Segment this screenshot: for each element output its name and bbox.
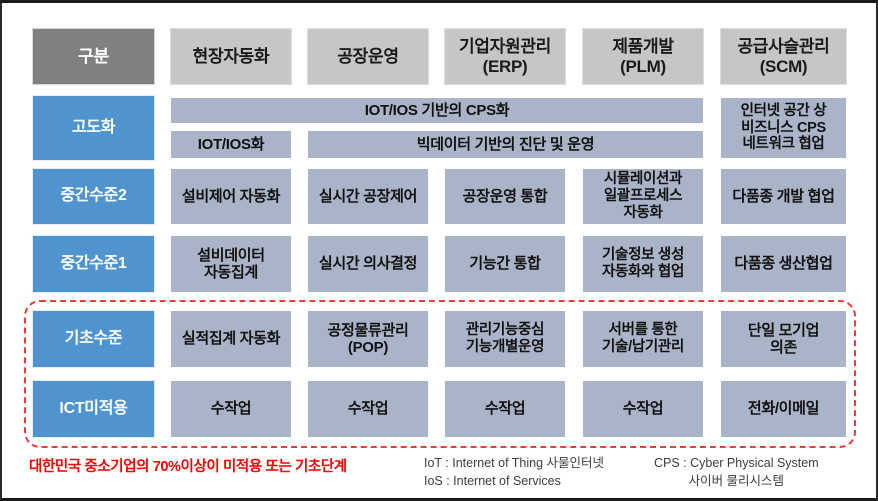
header-cell-scm: 공급사슬관리 (SCM) bbox=[720, 28, 847, 85]
cell-기초수준-현장자동화: 실적집계 자동화 bbox=[170, 310, 292, 368]
row-header-기초수준: 기초수준 bbox=[32, 310, 155, 368]
cell-고도화-span-top: IOT/IOS 기반의 CPS화 bbox=[170, 97, 704, 124]
legend-iot-ios: IoT : Internet of Thing 사물인터넷 IoS : Inte… bbox=[424, 454, 604, 490]
row-header-ict미적용: ICT미적용 bbox=[32, 380, 155, 438]
cell-중간수준1-현장자동화: 설비데이터 자동집계 bbox=[170, 235, 292, 293]
footer-note: 대한민국 중소기업의 70%이상이 미적용 또는 기초단계 bbox=[29, 455, 347, 476]
cell-기초수준-erp: 관리기능중심 기능개별운영 bbox=[444, 310, 566, 368]
cell-중간수준2-현장자동화: 설비제어 자동화 bbox=[170, 168, 292, 225]
cell-고도화-scm: 인터넷 공간 상 비즈니스 CPS 네트워크 협업 bbox=[720, 97, 847, 159]
cell-중간수준1-erp: 기능간 통합 bbox=[444, 235, 566, 293]
cell-중간수준2-plm: 시뮬레이션과 일괄프로세스 자동화 bbox=[582, 168, 704, 225]
cell-기초수준-scm: 단일 모기업 의존 bbox=[720, 310, 847, 368]
cell-ict미적용-scm: 전화/이메일 bbox=[720, 380, 847, 438]
row-header-고도화: 고도화 bbox=[32, 95, 155, 161]
cell-중간수준1-plm: 기술정보 생성 자동화와 협업 bbox=[582, 235, 704, 293]
cell-중간수준2-erp: 공장운영 통합 bbox=[444, 168, 566, 225]
header-cell-공장운영: 공장운영 bbox=[307, 28, 429, 85]
cell-ict미적용-plm: 수작업 bbox=[582, 380, 704, 438]
row-header-중간수준2: 중간수준2 bbox=[32, 168, 155, 225]
cell-ict미적용-공장운영: 수작업 bbox=[307, 380, 429, 438]
cell-고도화-span-bottom: 빅데이터 기반의 진단 및 운영 bbox=[307, 130, 704, 159]
header-cell-현장자동화: 현장자동화 bbox=[170, 28, 292, 85]
cell-중간수준2-공장운영: 실시간 공장제어 bbox=[307, 168, 429, 225]
cell-중간수준2-scm: 다품종 개발 협업 bbox=[720, 168, 847, 225]
row-header-중간수준1: 중간수준1 bbox=[32, 235, 155, 293]
legend-cps: CPS : Cyber Physical System 사이버 물리시스템 bbox=[654, 454, 819, 490]
header-cell-plm: 제품개발 (PLM) bbox=[582, 28, 704, 85]
cell-중간수준1-공장운영: 실시간 의사결정 bbox=[307, 235, 429, 293]
cell-기초수준-공장운영: 공정물류관리 (POP) bbox=[307, 310, 429, 368]
header-cell-erp: 기업자원관리 (ERP) bbox=[444, 28, 566, 85]
maturity-matrix-diagram: 구분 현장자동화 공장운영 기업자원관리 (ERP) 제품개발 (PLM) 공급… bbox=[0, 0, 878, 501]
cell-중간수준1-scm: 다품종 생산협업 bbox=[720, 235, 847, 293]
cell-고도화-현장자동화: IOT/IOS화 bbox=[170, 130, 292, 159]
cell-기초수준-plm: 서버를 통한 기술/납기관리 bbox=[582, 310, 704, 368]
cell-ict미적용-현장자동화: 수작업 bbox=[170, 380, 292, 438]
cell-ict미적용-erp: 수작업 bbox=[444, 380, 566, 438]
header-cell-구분: 구분 bbox=[32, 28, 155, 85]
